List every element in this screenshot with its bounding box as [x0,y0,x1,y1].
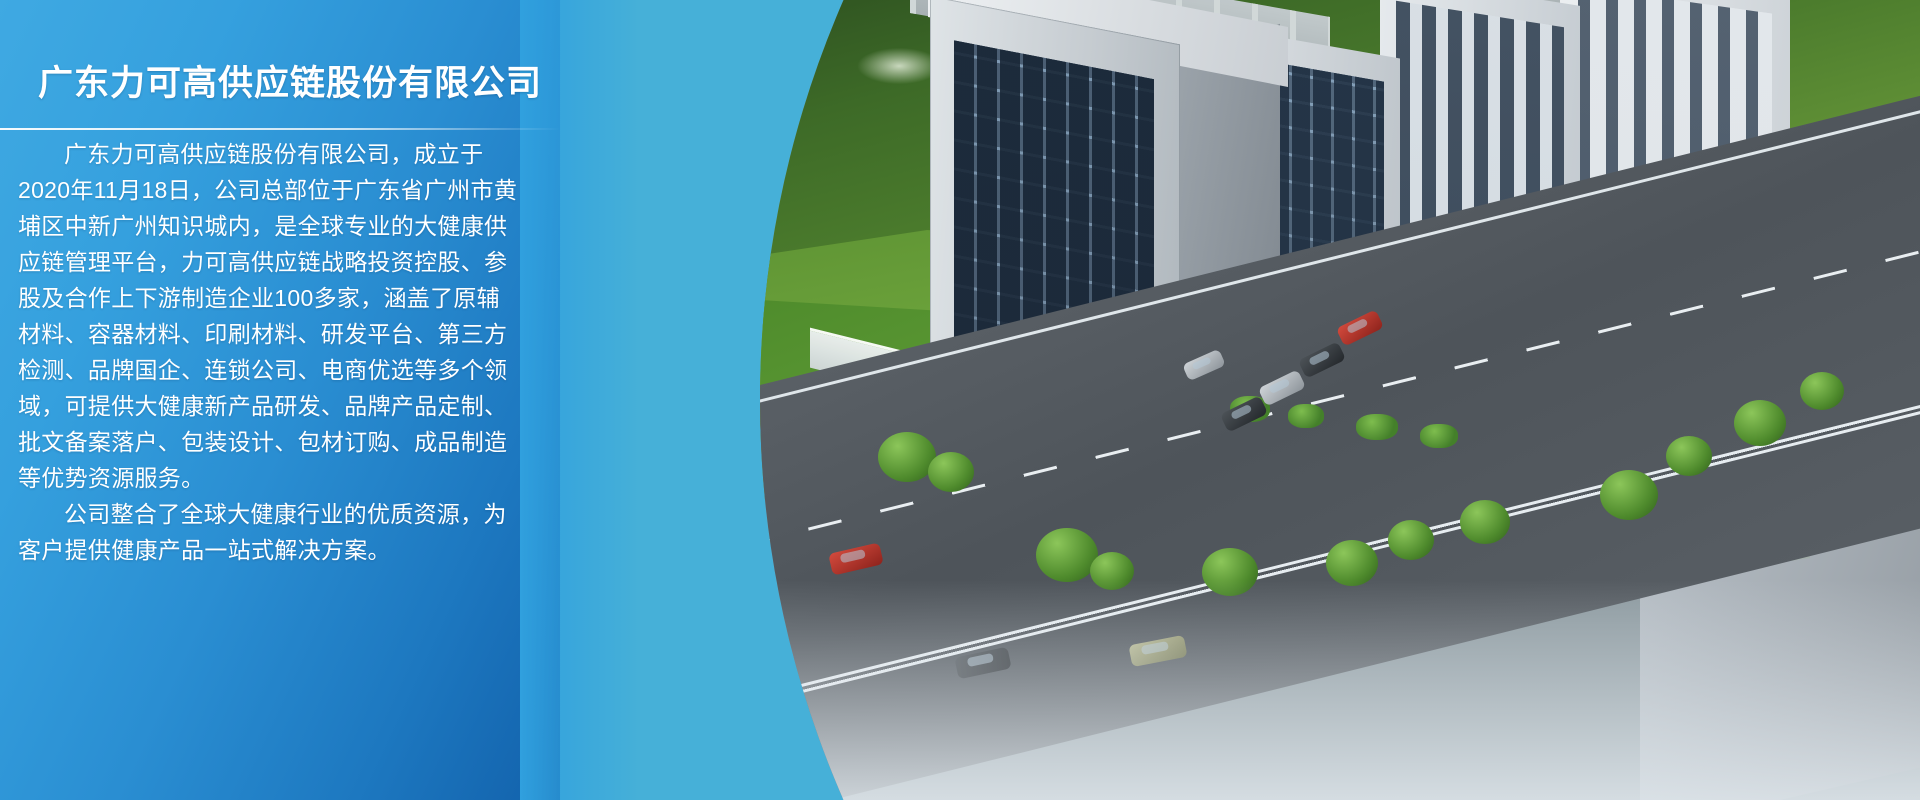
tree [1090,552,1134,590]
tree [1326,540,1378,586]
photo-circle-mask: 力可高国际产业园 [760,0,1920,800]
paragraph-2: 公司整合了全球大健康行业的优质资源，为客户提供健康产品一站式解决方案。 [18,496,518,568]
paragraph-1: 广东力可高供应链股份有限公司，成立于2020年11月18日，公司总部位于广东省广… [18,136,518,496]
shrub [1288,404,1324,428]
text-panel: 广东力可高供应链股份有限公司 广东力可高供应链股份有限公司，成立于2020年11… [0,0,560,800]
tree [1460,500,1510,544]
tree [1202,548,1258,596]
tree [1800,372,1844,410]
tree [1734,400,1786,446]
tree [928,452,974,492]
tree [1388,520,1434,560]
shrub [1420,424,1458,448]
tree [1666,436,1712,476]
tree [1600,470,1658,520]
industrial-park-photo: 力可高国际产业园 [760,0,1920,800]
page-title: 广东力可高供应链股份有限公司 [38,55,542,106]
company-description: 广东力可高供应链股份有限公司，成立于2020年11月18日，公司总部位于广东省广… [18,136,518,568]
tree [1036,528,1098,582]
shrub [1356,414,1398,440]
banner-stage: 力可高国际产业园 [0,0,1920,800]
title-divider [0,128,560,130]
